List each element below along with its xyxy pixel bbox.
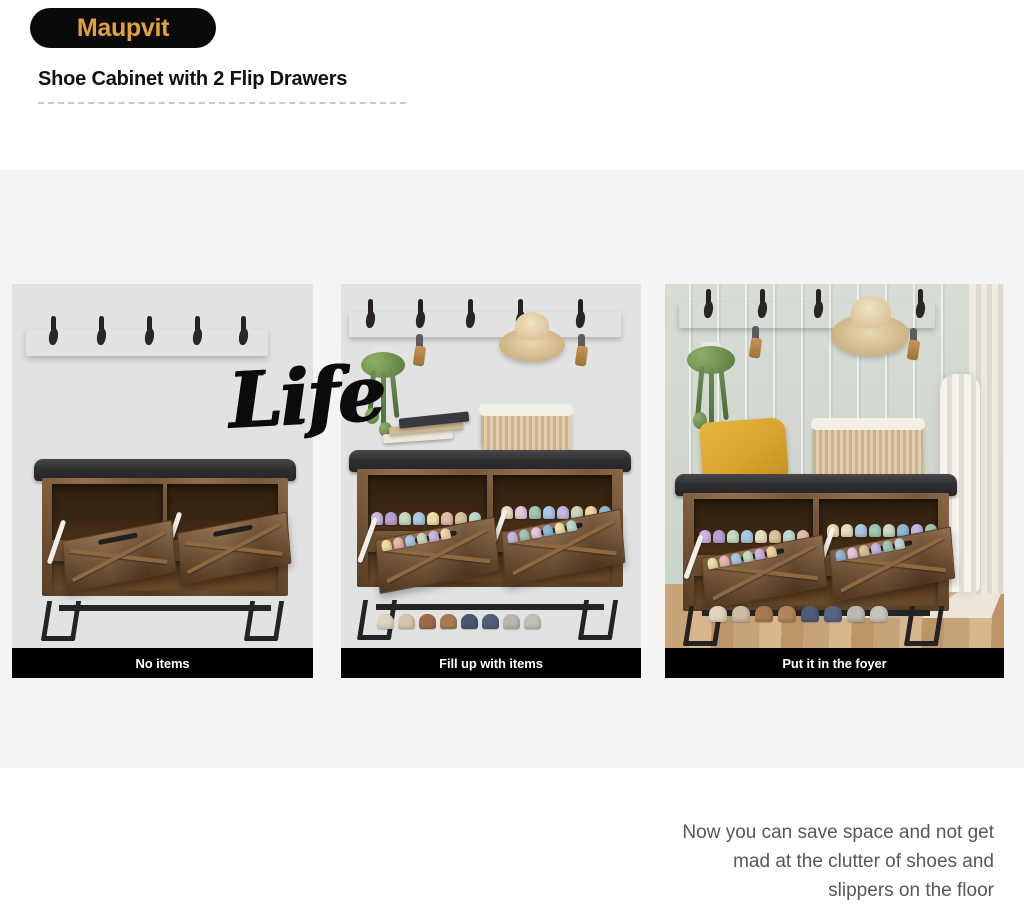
coat-hook-icon xyxy=(98,316,105,346)
shoe xyxy=(769,530,781,543)
shoe xyxy=(846,547,858,560)
shoe xyxy=(461,614,478,629)
footer-line-2: mad at the clutter of shoes and xyxy=(474,847,994,876)
shoe xyxy=(557,506,569,519)
coat-hook-icon xyxy=(705,289,712,319)
coat-hook-icon xyxy=(917,289,924,319)
coat-hook-icon xyxy=(146,316,153,346)
life-script-overlay: Life xyxy=(226,348,386,445)
cabinet-legs xyxy=(39,601,291,641)
shoe xyxy=(869,524,881,537)
panel-caption-text: Fill up with items xyxy=(439,656,543,671)
leg-rail xyxy=(376,604,603,610)
shoe xyxy=(855,524,867,537)
shoe xyxy=(727,530,739,543)
panel-image-foyer xyxy=(665,284,1004,648)
coat-hook-icon xyxy=(467,299,474,329)
hat-crown xyxy=(851,296,891,328)
shoe xyxy=(841,524,853,537)
shoe xyxy=(732,606,750,622)
shoe xyxy=(707,557,719,570)
shoe xyxy=(385,512,397,525)
shoe xyxy=(416,532,428,545)
straw-hat xyxy=(831,296,909,356)
shoe xyxy=(893,537,905,550)
shoe-cabinet-empty xyxy=(34,459,296,641)
footer-marketing-copy: Now you can save space and not get mad a… xyxy=(474,818,994,905)
key-strap xyxy=(749,337,763,358)
plant-vine xyxy=(718,366,729,420)
shoe xyxy=(755,530,767,543)
shoe xyxy=(428,530,440,543)
shoe xyxy=(542,524,554,537)
shoe-cabinet-full xyxy=(349,450,631,640)
hat-crown xyxy=(515,312,549,340)
title-divider xyxy=(38,102,406,104)
panel-image-no-items xyxy=(12,284,313,648)
coat-hook-icon xyxy=(417,299,424,329)
coat-hook-icon xyxy=(367,299,374,329)
shoe xyxy=(870,606,888,622)
shoe xyxy=(870,542,882,555)
panel-caption-text: No items xyxy=(135,656,189,671)
shoe xyxy=(730,552,742,565)
shoe xyxy=(718,555,730,568)
panel-caption-bar: Fill up with items xyxy=(341,648,641,678)
shoe xyxy=(413,512,425,525)
shoe xyxy=(801,606,819,622)
shoe xyxy=(713,530,725,543)
shoe xyxy=(404,534,416,547)
shoe xyxy=(529,506,541,519)
drawer-handle-right[interactable] xyxy=(213,525,252,538)
shoe xyxy=(515,506,527,519)
wall-coat-rack xyxy=(26,329,268,356)
wicker-basket xyxy=(813,424,923,480)
panel-caption-bar: No items xyxy=(12,648,313,678)
brand-logo-pill: Maupvit xyxy=(30,8,216,48)
shoe xyxy=(824,606,842,622)
key-strap xyxy=(907,339,921,360)
shoe xyxy=(381,539,393,552)
shoes-on-floor xyxy=(709,606,888,622)
hanging-keys xyxy=(749,326,763,356)
shoe xyxy=(524,614,541,629)
shoe xyxy=(883,524,895,537)
shoe xyxy=(741,530,753,543)
shoe xyxy=(518,529,530,542)
shoe xyxy=(554,522,566,535)
hanging-keys xyxy=(575,334,589,364)
shoe xyxy=(530,526,542,539)
feature-panel-fill-up: Fill up with items xyxy=(341,284,641,678)
coat-hook-icon xyxy=(577,299,584,329)
coat-hook-icon xyxy=(815,289,822,319)
shoe xyxy=(858,544,870,557)
shoe xyxy=(765,545,777,558)
shoe xyxy=(427,512,439,525)
shoe xyxy=(709,606,727,622)
shoe xyxy=(507,531,519,544)
shoe xyxy=(847,606,865,622)
leg-rail xyxy=(59,605,270,611)
shoe xyxy=(755,606,773,622)
shoe xyxy=(441,512,453,525)
hanging-keys xyxy=(413,334,427,364)
shoe xyxy=(419,614,436,629)
feature-panel-foyer: Put it in the foyer xyxy=(665,284,1004,678)
shoe xyxy=(778,606,796,622)
shoe xyxy=(399,512,411,525)
shoe xyxy=(742,550,754,563)
shoe xyxy=(503,614,520,629)
shoe xyxy=(835,549,847,562)
shoe xyxy=(377,614,394,629)
straw-hat xyxy=(499,312,565,362)
shoe xyxy=(543,506,555,519)
coat-hook-icon xyxy=(50,316,57,346)
panel-image-fill-up xyxy=(341,284,641,648)
wicker-basket xyxy=(481,410,571,450)
footer-line-3: slippers on the floor xyxy=(474,876,994,905)
shoe xyxy=(565,519,577,532)
key-strap xyxy=(413,345,427,366)
footer-line-1: Now you can save space and not get xyxy=(474,818,994,847)
coat-hook-icon xyxy=(240,316,247,346)
feature-panel-no-items: No items xyxy=(12,284,313,678)
hanging-keys xyxy=(907,328,921,358)
brand-name: Maupvit xyxy=(77,16,169,41)
shoe xyxy=(754,548,766,561)
page-header: Maupvit Shoe Cabinet with 2 Flip Drawers xyxy=(0,0,1024,170)
basket-liner xyxy=(479,404,573,416)
panel-caption-text: Put it in the foyer xyxy=(782,656,886,671)
drawer-handle-left[interactable] xyxy=(98,533,137,546)
panel-caption-bar: Put it in the foyer xyxy=(665,648,1004,678)
coat-hook-icon xyxy=(194,316,201,346)
shoe xyxy=(440,614,457,629)
shoes-on-floor xyxy=(377,614,541,629)
shoe xyxy=(398,614,415,629)
basket-liner xyxy=(811,418,925,430)
shoe xyxy=(439,527,451,540)
plant-vine xyxy=(390,370,400,418)
coat-hook-icon xyxy=(759,289,766,319)
shoe xyxy=(392,537,404,550)
shoe xyxy=(882,540,894,553)
shoe xyxy=(482,614,499,629)
key-strap xyxy=(575,345,589,366)
page-title: Shoe Cabinet with 2 Flip Drawers xyxy=(38,68,347,91)
